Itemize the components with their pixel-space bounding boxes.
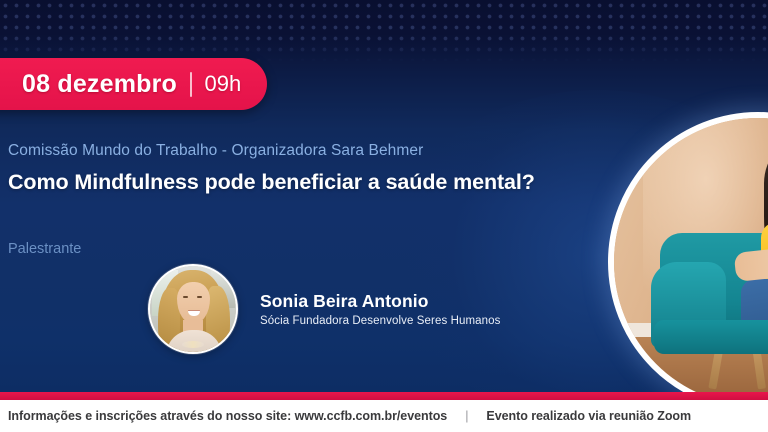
- event-banner: 08 dezembro 09h Comissão Mundo do Trabal…: [0, 0, 768, 432]
- badge-divider: [190, 72, 192, 97]
- speaker-section-label: Palestrante: [8, 241, 81, 257]
- event-title: Como Mindfulness pode beneficiar a saúde…: [8, 170, 535, 195]
- avatar: [148, 264, 238, 354]
- speaker-name: Sonia Beira Antonio: [260, 291, 501, 312]
- footer-divider: |: [463, 409, 470, 423]
- avatar-photo: [150, 266, 236, 352]
- date-time-badge: 08 dezembro 09h: [0, 58, 267, 110]
- footer-bar: Informações e inscrições através do noss…: [0, 400, 768, 432]
- accent-bar: [0, 392, 768, 400]
- speaker-block: Sonia Beira Antonio Sócia Fundadora Dese…: [148, 264, 501, 354]
- speaker-text: Sonia Beira Antonio Sócia Fundadora Dese…: [260, 291, 501, 327]
- badge-date-label: 08 dezembro: [22, 70, 177, 99]
- hero-photo: [614, 118, 768, 406]
- event-subtitle: Comissão Mundo do Trabalho - Organizador…: [8, 142, 423, 160]
- footer-platform-text: Evento realizado via reunião Zoom: [486, 409, 691, 423]
- badge-time-label: 09h: [205, 71, 242, 97]
- footer-info-text: Informações e inscrições através do noss…: [8, 409, 447, 423]
- hero-photo-circle: [608, 112, 768, 412]
- speaker-role: Sócia Fundadora Desenvolve Seres Humanos: [260, 315, 501, 327]
